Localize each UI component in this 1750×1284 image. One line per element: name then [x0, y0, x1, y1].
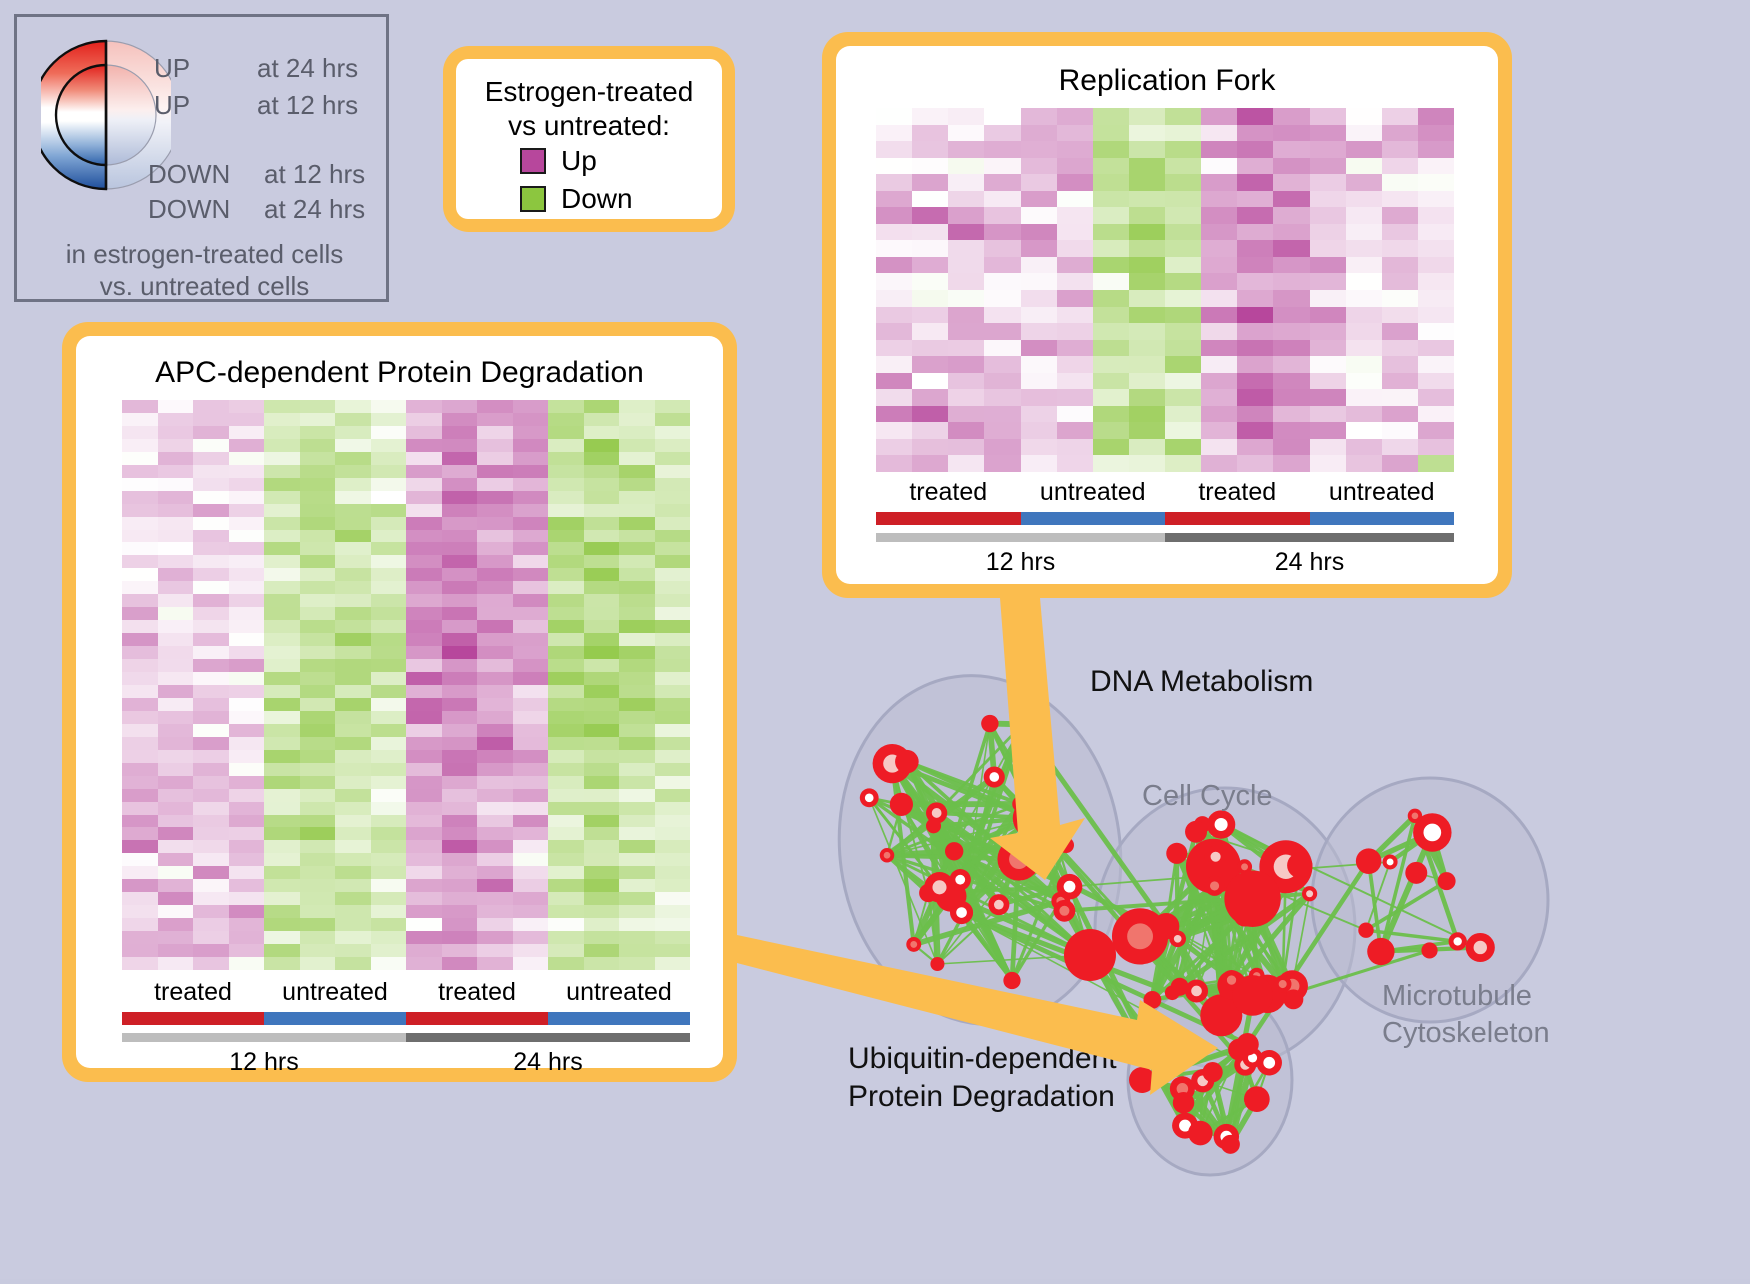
- key-footer: in estrogen-treated cells vs. untreated …: [17, 239, 392, 302]
- apc-treatment-bar: [122, 1012, 690, 1025]
- network-node: [1064, 929, 1116, 981]
- expression-key-box: UP at 24 hrs UP at 12 hrs DOWN at 12 hrs…: [14, 14, 389, 302]
- microtubule-line1: Microtubule: [1382, 978, 1550, 1015]
- network-node-core: [1387, 859, 1394, 866]
- network-node-core: [1174, 935, 1182, 943]
- legend-title: Estrogen-treated vs untreated:: [456, 75, 722, 143]
- network-node: [1405, 862, 1427, 884]
- treatment-bar-segment-1: [1021, 512, 1166, 525]
- cluster-label-dna-metabolism: DNA Metabolism: [1090, 665, 1313, 699]
- network-node: [1244, 1086, 1270, 1112]
- network-node-core: [1210, 881, 1219, 890]
- rf-col-label-2: treated: [1165, 478, 1310, 507]
- apc-col-label-0: treated: [122, 978, 264, 1007]
- legend-label-down: Down: [561, 183, 633, 215]
- network-node: [1367, 938, 1394, 965]
- legend-label-up: Up: [561, 145, 597, 177]
- network-node: [1185, 821, 1207, 843]
- network-node-core: [1423, 824, 1441, 842]
- network-node: [1058, 837, 1074, 853]
- network-node: [1221, 1135, 1240, 1154]
- rf-col-label-0: treated: [876, 478, 1021, 507]
- network-node-core: [1127, 923, 1153, 949]
- replication-fork-time-bar: [876, 533, 1454, 542]
- network-node: [890, 793, 913, 816]
- ubiquitin-line1: Ubiquitin-dependent: [848, 1040, 1117, 1078]
- network-node: [1287, 853, 1312, 878]
- network-node-core: [956, 907, 967, 918]
- key-label-down-12: DOWN: [148, 159, 230, 190]
- network-node: [1013, 715, 1032, 734]
- key-time-down-24: at 24 hrs: [264, 194, 365, 225]
- time-bar-segment-1: [1165, 533, 1454, 542]
- network-node-core: [932, 808, 942, 818]
- network-node: [1129, 1067, 1155, 1093]
- apc-title: APC-dependent Protein Degradation: [76, 356, 723, 390]
- rf-time-label-24: 24 hrs: [1165, 548, 1454, 577]
- apc-heatmap: [122, 400, 690, 970]
- treatment-bar-segment-3: [548, 1012, 690, 1025]
- network-node-core: [1474, 941, 1487, 954]
- key-time-down-12: at 12 hrs: [264, 159, 365, 190]
- network-node: [1173, 1092, 1194, 1113]
- treatment-bar-segment-2: [406, 1012, 548, 1025]
- key-label-up-12: UP: [154, 90, 190, 121]
- key-label-up-24: UP: [154, 53, 190, 84]
- key-footer-line2: vs. untreated cells: [17, 271, 392, 303]
- network-node: [1203, 1062, 1223, 1082]
- network-node-core: [865, 793, 874, 802]
- network-node-core: [1059, 906, 1069, 916]
- network-node-core: [1241, 863, 1248, 870]
- network-node: [981, 715, 998, 732]
- network-node-core: [955, 875, 965, 885]
- apc-col-label-3: untreated: [548, 978, 690, 1007]
- cluster-label-ubiquitin: Ubiquitin-dependent Protein Degradation: [848, 1040, 1117, 1116]
- ubiquitin-line2: Protein Degradation: [848, 1078, 1117, 1116]
- replication-fork-time-labels: 12 hrs 24 hrs: [876, 548, 1454, 577]
- treatment-bar-segment-3: [1310, 512, 1455, 525]
- apc-inner: APC-dependent Protein Degradation treate…: [76, 336, 723, 1068]
- key-label-down-24: DOWN: [148, 194, 230, 225]
- network-node-core: [1453, 937, 1461, 945]
- network-node-core: [932, 880, 946, 894]
- time-bar-segment-0: [122, 1033, 406, 1042]
- replication-fork-inner: Replication Fork treated untreated treat…: [836, 46, 1498, 584]
- network-node: [1171, 978, 1189, 996]
- network-node: [1421, 942, 1437, 958]
- legend-panel: Estrogen-treated vs untreated: Up Down: [443, 46, 735, 232]
- replication-fork-title: Replication Fork: [836, 64, 1498, 98]
- replication-fork-treatment-bar: [876, 512, 1454, 525]
- time-bar-segment-1: [406, 1033, 690, 1042]
- treatment-bar-segment-2: [1165, 512, 1310, 525]
- network-node-core: [989, 772, 999, 782]
- network-node: [1224, 871, 1280, 927]
- apc-time-bar: [122, 1033, 690, 1042]
- network-node-core: [910, 941, 917, 948]
- network-node-core: [1279, 980, 1287, 988]
- network-node: [1236, 1033, 1258, 1055]
- legend-swatch-down-icon: [520, 186, 546, 212]
- network-node: [1143, 991, 1161, 1009]
- apc-col-label-2: treated: [406, 978, 548, 1007]
- network-node-core: [1024, 809, 1042, 827]
- legend-swatch-up-icon: [520, 148, 546, 174]
- key-time-up-24: at 24 hrs: [257, 53, 358, 84]
- cluster-label-microtubule: Microtubule Cytoskeleton: [1382, 978, 1550, 1051]
- time-bar-segment-0: [876, 533, 1165, 542]
- network-node: [945, 842, 963, 860]
- network-node: [926, 818, 941, 833]
- key-footer-line1: in estrogen-treated cells: [17, 239, 392, 271]
- apc-time-labels: 12 hrs 24 hrs: [122, 1048, 690, 1077]
- key-time-up-12: at 12 hrs: [257, 90, 358, 121]
- network-node: [1283, 989, 1303, 1009]
- apc-panel: APC-dependent Protein Degradation treate…: [62, 322, 737, 1082]
- microtubule-line2: Cytoskeleton: [1382, 1015, 1550, 1052]
- apc-column-labels: treated untreated treated untreated: [122, 978, 690, 1007]
- rf-col-label-1: untreated: [1021, 478, 1166, 507]
- apc-col-label-1: untreated: [264, 978, 406, 1007]
- network-node: [1188, 1121, 1213, 1146]
- network-node-core: [1227, 975, 1236, 984]
- legend-item-down: Down: [520, 183, 633, 215]
- cluster-label-cell-cycle: Cell Cycle: [1142, 780, 1273, 813]
- network-node-core: [1211, 852, 1221, 862]
- network-node-core: [1191, 986, 1202, 997]
- network-node-core: [1064, 881, 1076, 893]
- network-node-core: [1412, 813, 1419, 820]
- replication-fork-panel: Replication Fork treated untreated treat…: [822, 32, 1512, 598]
- legend-panel-inner: Estrogen-treated vs untreated: Up Down: [456, 59, 722, 219]
- network-node-core: [1263, 1057, 1275, 1069]
- treatment-bar-segment-1: [264, 1012, 406, 1025]
- network-node: [1003, 972, 1020, 989]
- network-graph: [790, 610, 1750, 1279]
- replication-fork-heatmap: [876, 108, 1454, 472]
- network-node-core: [1215, 818, 1228, 831]
- replication-fork-column-labels: treated untreated treated untreated: [876, 478, 1454, 507]
- network-node: [895, 750, 919, 774]
- network-node: [930, 957, 944, 971]
- network-node-core: [884, 852, 891, 859]
- network-node-core: [1306, 890, 1313, 897]
- legend-item-up: Up: [520, 145, 597, 177]
- apc-time-label-12: 12 hrs: [122, 1048, 406, 1077]
- network-node: [1166, 843, 1187, 864]
- pathway-network: DNA Metabolism Cell Cycle Microtubule Cy…: [790, 610, 1750, 1279]
- treatment-bar-segment-0: [876, 512, 1021, 525]
- legend-title-line1: Estrogen-treated: [456, 75, 722, 109]
- rf-time-label-12: 12 hrs: [876, 548, 1165, 577]
- legend-title-line2: vs untreated:: [456, 109, 722, 143]
- network-node-core: [994, 900, 1004, 910]
- network-node: [1438, 872, 1456, 890]
- apc-time-label-24: 24 hrs: [406, 1048, 690, 1077]
- network-node: [1358, 922, 1373, 937]
- network-node-core: [1009, 849, 1029, 869]
- treatment-bar-segment-0: [122, 1012, 264, 1025]
- network-node: [1356, 848, 1382, 874]
- rf-col-label-3: untreated: [1310, 478, 1455, 507]
